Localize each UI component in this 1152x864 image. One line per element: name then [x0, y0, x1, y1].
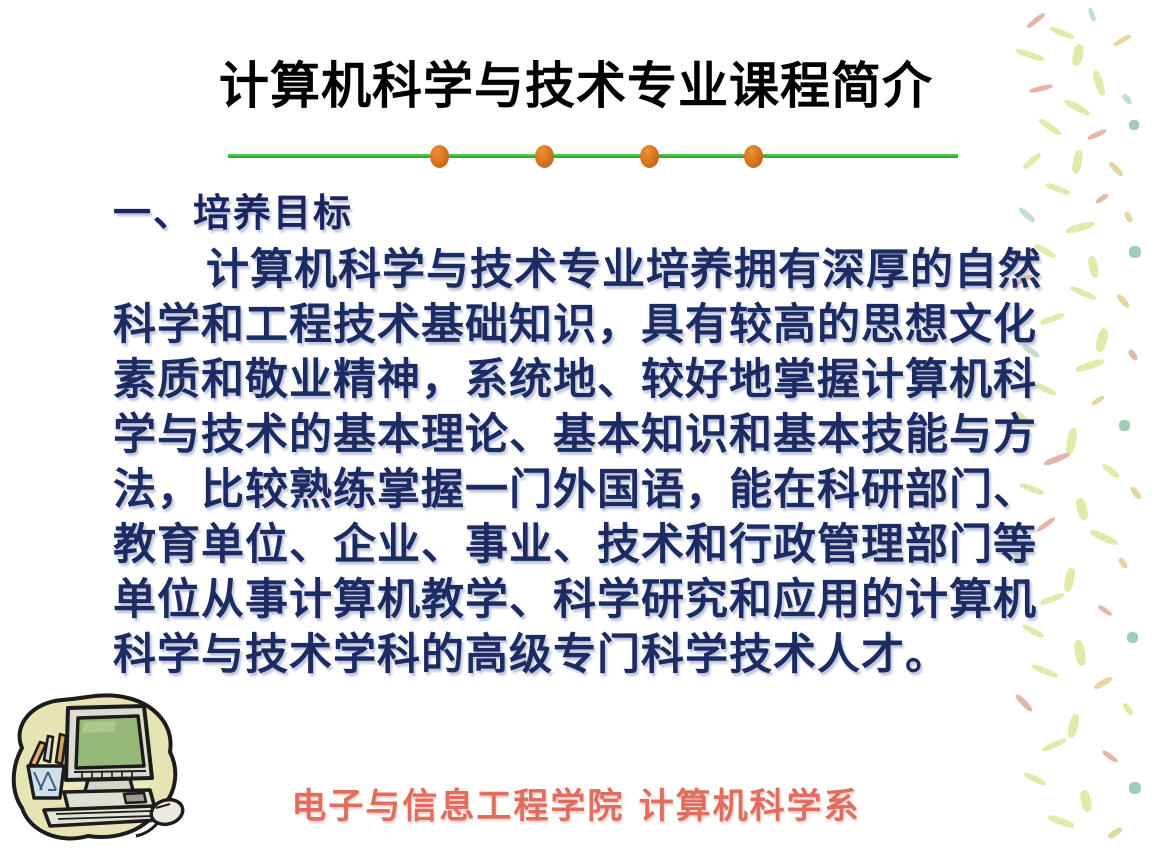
- body-line: 学与技术的基本理论、基本知识和基本技能与方: [113, 408, 1068, 463]
- confetti-dash: [1087, 255, 1100, 278]
- confetti-dash: [1127, 348, 1139, 361]
- confetti-dash: [1089, 528, 1119, 547]
- confetti-dash: [1049, 25, 1075, 40]
- confetti-dash: [1101, 749, 1119, 764]
- confetti-dash: [1119, 420, 1130, 431]
- confetti-dash: [1065, 220, 1096, 235]
- confetti-dash: [1123, 211, 1134, 224]
- body-line: 科学和工程技术基础知识，具有较高的思想文化: [113, 298, 1068, 353]
- confetti-dash: [1108, 160, 1125, 177]
- confetti-dash: [1038, 117, 1063, 137]
- confetti-dash: [1115, 293, 1130, 309]
- confetti-dash: [1075, 358, 1106, 374]
- confetti-dash: [1091, 395, 1106, 407]
- desktop-computer-icon: [4, 686, 194, 858]
- confetti-dash: [1129, 120, 1139, 130]
- confetti-dash: [1045, 182, 1071, 197]
- confetti-dash: [1073, 639, 1087, 666]
- confetti-dash: [1117, 556, 1128, 569]
- confetti-dash: [1121, 702, 1134, 717]
- confetti-dash: [1129, 246, 1141, 258]
- confetti-dash: [1087, 128, 1107, 141]
- body-line: 计算机科学与技术专业培养拥有深厚的自然: [113, 243, 1068, 298]
- body-line: 法，比较熟练掌握一门外国语，能在科研部门、: [113, 463, 1068, 518]
- body-line: 教育单位、企业、事业、技术和行政管理部门等: [113, 518, 1068, 573]
- body-paragraph: 计算机科学与技术专业培养拥有深厚的自然科学和工程技术基础知识，具有较高的思想文化…: [113, 243, 1068, 683]
- confetti-dash: [1097, 604, 1113, 617]
- title-container: 计算机科学与技术专业课程简介: [0, 58, 1152, 116]
- confetti-dash: [1101, 462, 1120, 479]
- confetti-dash: [1112, 33, 1132, 47]
- divider-bead: [744, 145, 763, 168]
- confetti-dash: [1066, 713, 1081, 738]
- divider-bead: [430, 145, 449, 168]
- body-line: 单位从事计算机教学、科学研究和应用的计算机: [113, 573, 1068, 628]
- confetti-dash: [1087, 7, 1096, 22]
- confetti-dash: [1093, 675, 1113, 690]
- confetti-dash: [1069, 285, 1097, 302]
- confetti-dash: [1127, 632, 1138, 643]
- confetti-dash: [1026, 12, 1046, 29]
- confetti-dash: [1014, 693, 1034, 713]
- divider: [228, 143, 958, 169]
- section-heading: 一、培养目标: [113, 182, 353, 237]
- slide-canvas: 计算机科学与技术专业课程简介 一、培养目标 计算机科学与技术专业培养拥有深厚的自…: [0, 0, 1152, 864]
- confetti-dash: [1022, 152, 1043, 171]
- divider-bead: [535, 145, 554, 168]
- confetti-dash: [1129, 486, 1142, 501]
- confetti-dash: [1041, 737, 1067, 753]
- body-line: 科学与技术学科的高级专门科学技术人才。: [113, 628, 1068, 683]
- confetti-dash: [1074, 497, 1089, 521]
- confetti-dash: [1095, 193, 1109, 205]
- body-line: 素质和敬业精神，系统地、较好地掌握计算机科: [113, 353, 1068, 408]
- confetti-dash: [1071, 149, 1084, 174]
- confetti-dash: [1018, 206, 1037, 224]
- divider-bead: [640, 145, 659, 168]
- page-title: 计算机科学与技术专业课程简介: [219, 58, 933, 116]
- divider-line: [228, 154, 958, 158]
- confetti-dash: [1094, 327, 1110, 353]
